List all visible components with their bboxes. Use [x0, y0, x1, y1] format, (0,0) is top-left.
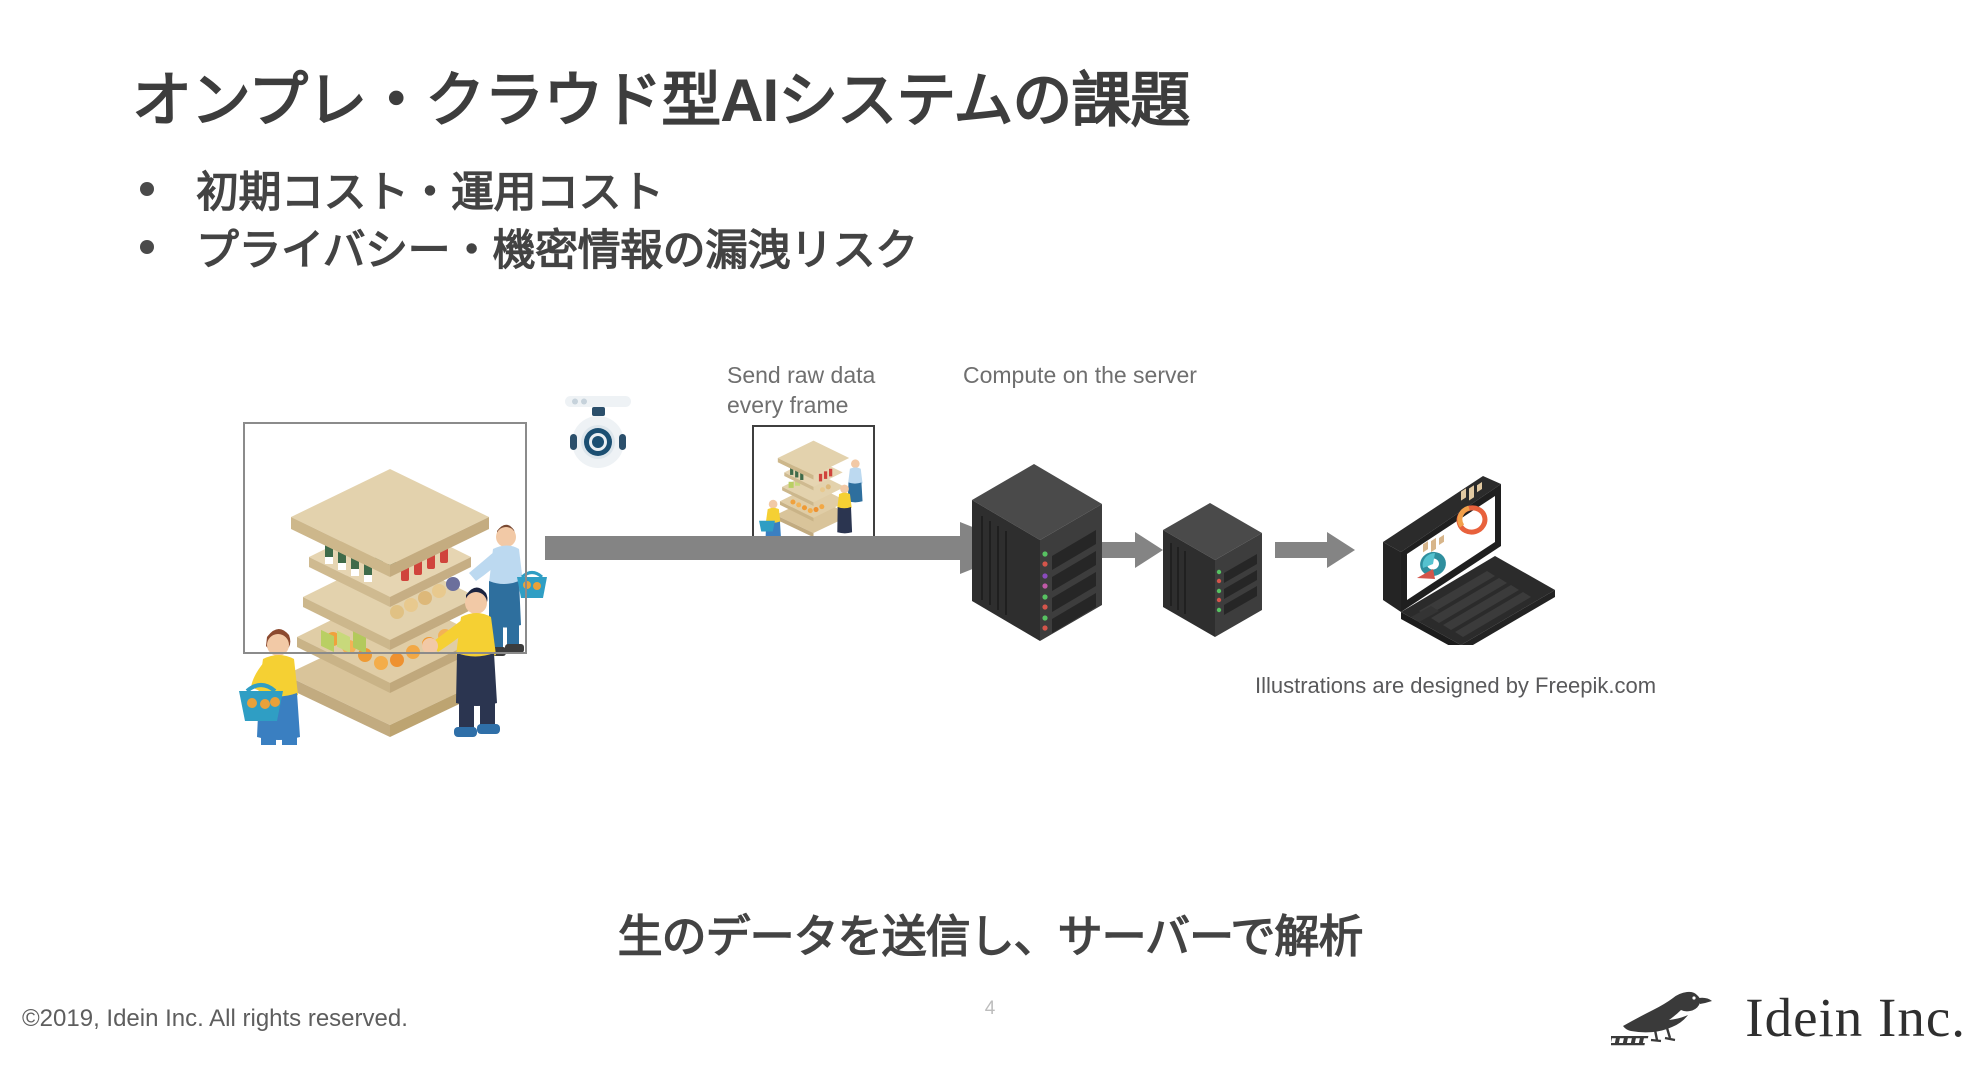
arrow-server-to-laptop — [1275, 530, 1355, 570]
bullet-dot-icon — [140, 240, 154, 254]
raven-logo-icon — [1611, 986, 1723, 1048]
label-line-2: every frame — [727, 392, 848, 418]
diagram-caption: 生のデータを送信し、サーバーで解析 — [0, 900, 1980, 965]
page-title: オンプレ・クラウド型AIシステムの課題 — [132, 52, 1189, 139]
bullet-dot-icon — [140, 182, 154, 196]
diagram-label-compute-on-server: Compute on the server — [963, 360, 1197, 390]
architecture-diagram: Send raw dataevery frame Compute on the … — [0, 350, 1980, 910]
laptop-dashboard-icon — [1365, 470, 1565, 645]
bullet-text: プライバシー・機密情報の漏洩リスク — [196, 216, 918, 278]
illustration-credit: Illustrations are designed by Freepik.co… — [1255, 673, 1656, 699]
server-rack-small-icon — [1155, 500, 1270, 640]
list-item: プライバシー・機密情報の漏洩リスク — [140, 218, 1340, 276]
list-item: 初期コスト・運用コスト — [140, 160, 1340, 218]
security-camera-icon — [553, 388, 643, 478]
bullet-list: 初期コスト・運用コスト プライバシー・機密情報の漏洩リスク — [140, 160, 1340, 276]
brand-wordmark: Idein Inc. — [1745, 986, 1966, 1049]
server-rack-large-icon — [962, 460, 1112, 645]
diagram-label-send-raw-data: Send raw dataevery frame — [727, 360, 875, 420]
bullet-text: 初期コスト・運用コスト — [196, 158, 664, 220]
brand-logo: Idein Inc. — [1611, 982, 1966, 1052]
arrow-store-to-server — [545, 520, 1025, 576]
camera-field-of-view-frame — [243, 422, 527, 654]
label-line-1: Send raw data — [727, 362, 875, 388]
